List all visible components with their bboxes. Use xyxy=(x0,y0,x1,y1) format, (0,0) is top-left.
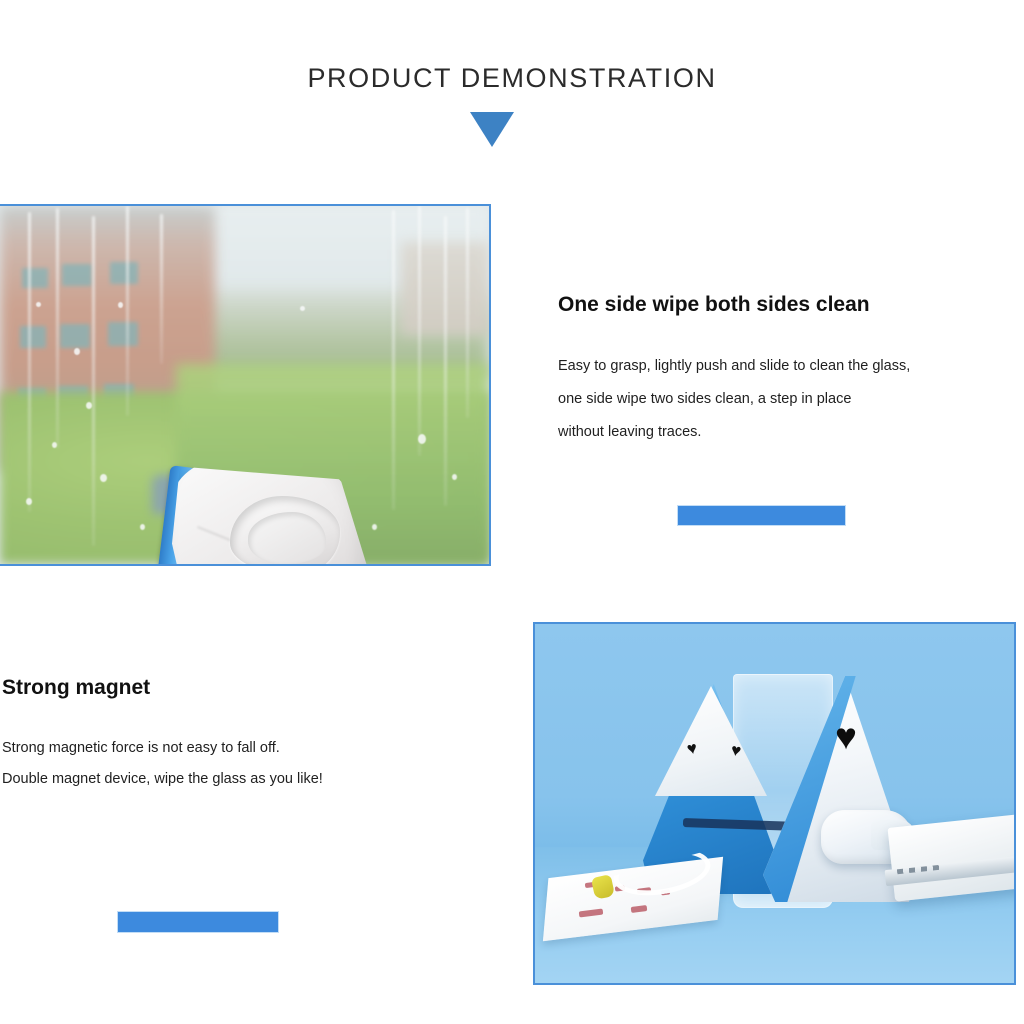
body-line: without leaving traces. xyxy=(558,416,1018,449)
building-window xyxy=(62,264,92,286)
page-title: PRODUCT DEMONSTRATION xyxy=(0,63,1024,94)
water-droplet xyxy=(86,402,92,409)
building-window xyxy=(108,322,138,346)
window-cleaner-device: ♥ xyxy=(152,458,370,564)
water-droplet xyxy=(36,302,41,307)
window-cleaner-on-wet-glass-photo: ♥ xyxy=(0,204,491,566)
water-droplet xyxy=(118,302,123,308)
white-notebook-prop xyxy=(888,812,1014,901)
water-streak xyxy=(160,214,163,364)
water-streak xyxy=(126,206,129,416)
water-droplet xyxy=(452,474,457,480)
water-droplet xyxy=(418,434,426,444)
water-streak xyxy=(466,208,469,418)
water-streak xyxy=(392,210,395,510)
water-streak xyxy=(444,216,447,506)
water-streak xyxy=(28,212,31,512)
water-droplet xyxy=(52,442,57,448)
water-droplet xyxy=(74,348,80,355)
section-body-one: Easy to grasp, lightly push and slide to… xyxy=(558,350,1018,449)
water-droplet xyxy=(300,306,305,311)
photo-two-scene: ♥ ♥ ♥ xyxy=(535,624,1014,983)
water-streak xyxy=(92,216,95,546)
device-handle-recess xyxy=(248,512,326,564)
section-body-two: Strong magnetic force is not easy to fal… xyxy=(2,733,472,795)
heart-icon: ♥ xyxy=(835,720,871,754)
section-heading-one: One side wipe both sides clean xyxy=(558,293,870,317)
building-window xyxy=(110,262,138,284)
building-window xyxy=(60,324,90,348)
water-droplet xyxy=(100,474,107,482)
accent-bar-one xyxy=(678,506,845,525)
body-line: one side wipe two sides clean, a step in… xyxy=(558,383,1018,416)
water-droplet xyxy=(372,524,377,530)
body-line: Easy to grasp, lightly push and slide to… xyxy=(558,350,1018,383)
water-droplet xyxy=(26,498,32,505)
double-magnet-device-studio-photo: ♥ ♥ ♥ xyxy=(533,622,1016,985)
down-triangle-icon xyxy=(470,112,514,147)
building-window xyxy=(22,268,48,288)
water-streak xyxy=(56,208,59,448)
body-line: Double magnet device, wipe the glass as … xyxy=(2,764,472,795)
body-line: Strong magnetic force is not easy to fal… xyxy=(2,733,472,764)
section-heading-two: Strong magnet xyxy=(2,676,150,700)
photo-one-scene: ♥ xyxy=(0,206,489,564)
water-streak xyxy=(418,206,421,456)
water-droplet xyxy=(140,524,145,530)
building-window xyxy=(20,326,46,348)
accent-bar-two xyxy=(118,912,278,932)
